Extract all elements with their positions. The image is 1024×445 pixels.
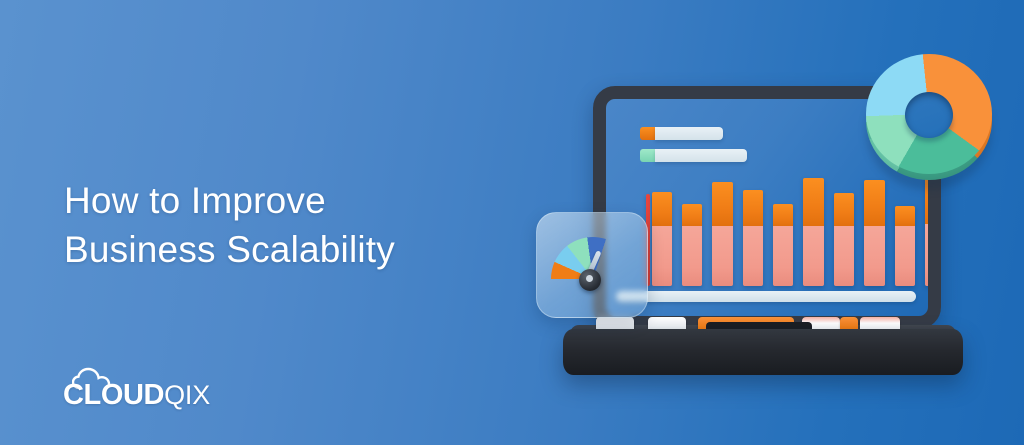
progress-bar (616, 291, 916, 302)
table-row (652, 192, 672, 286)
logo-wordmark: CLOUDQIX (63, 381, 210, 410)
gauge-hub-dot (586, 275, 593, 282)
laptop-analytics-illustration (530, 44, 1024, 445)
table-row (712, 182, 733, 286)
table-row (773, 204, 793, 286)
page-title: How to Improve Business Scalability (64, 176, 534, 274)
table-row (682, 204, 702, 286)
donut-hole (905, 92, 953, 138)
table-row (895, 206, 915, 286)
table-row (743, 190, 763, 286)
speedometer-gauge-card (536, 212, 648, 318)
logo-word-cloud: CLOUD (63, 379, 164, 411)
logo-word-qix: QIX (164, 380, 210, 410)
banner-root: How to Improve Business Scalability CLOU… (0, 0, 1024, 445)
table-row (834, 193, 854, 286)
table-row (803, 178, 824, 286)
table-row (864, 180, 885, 286)
text-block: How to Improve Business Scalability (64, 176, 534, 274)
laptop-base (563, 329, 963, 375)
donut-chart (858, 54, 1002, 188)
